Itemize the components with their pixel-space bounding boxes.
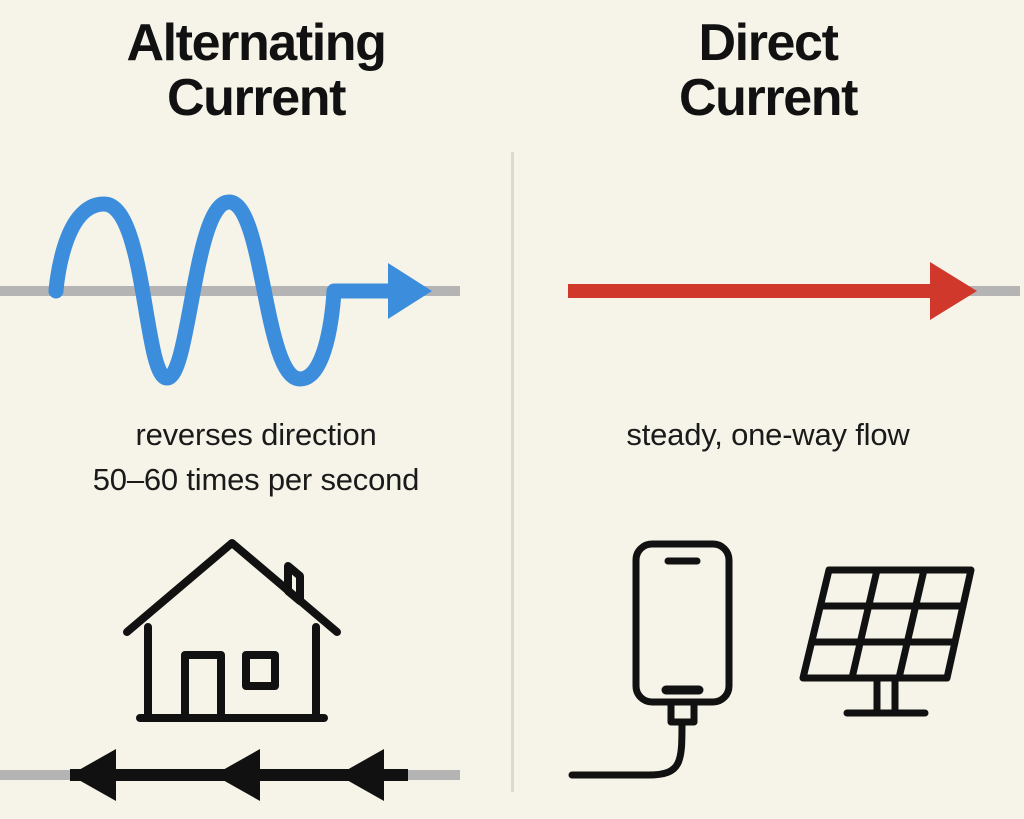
panel-alternating-current: Alternating Current reverses direction 5… (0, 0, 512, 819)
diagram-canvas: Alternating Current reverses direction 5… (0, 0, 1024, 819)
ac-caption: reverses direction 50–60 times per secon… (0, 412, 512, 503)
dc-caption: steady, one-way flow (512, 412, 1024, 457)
panel-direct-current: Direct Current steady, one-way flow (512, 0, 1024, 819)
dc-title: Direct Current (512, 16, 1024, 126)
ac-title: Alternating Current (0, 16, 512, 126)
